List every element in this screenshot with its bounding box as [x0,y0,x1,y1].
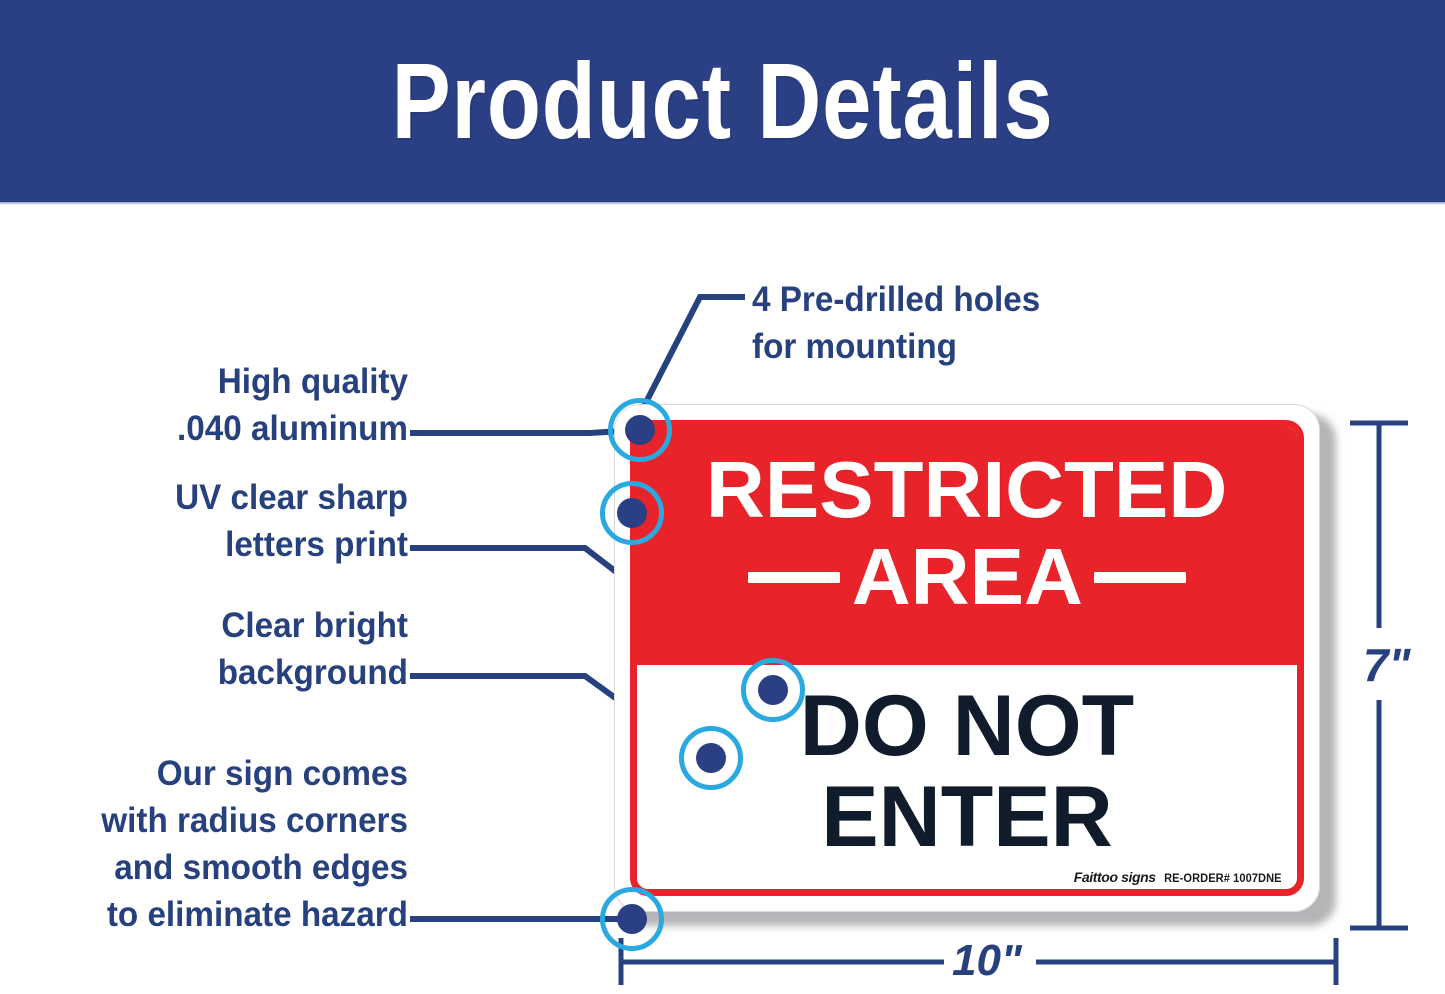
sign-headline-restricted: RESTRICTED [706,448,1227,532]
leader-aluminum [410,430,637,433]
annotation-bright-background: Clear bright background [77,602,408,696]
header-banner: Product Details [0,0,1445,202]
callout-dot [617,904,647,934]
sign-red-header: RESTRICTED AREA [636,426,1298,665]
callout-dot [617,498,647,528]
sign-headline-area: AREA [851,536,1082,618]
rule-dash-left [748,572,840,583]
callout-dot [758,675,788,705]
annotation-aluminum: High quality .040 aluminum [77,358,408,452]
page-title: Product Details [392,47,1054,155]
sign-body-enter: ENTER [821,772,1112,862]
callout-marker-radius [600,887,664,951]
sign-reorder-code: RE-ORDER# 1007DNE [1164,871,1282,885]
sign-brand-logo: Faittoo signs [1074,869,1156,885]
sign-area-row: AREA [636,536,1298,618]
callout-marker-uv-print [741,658,805,722]
sign-aluminum-plate: RESTRICTED AREA DO NOT ENTER Faittoo sig… [614,404,1320,912]
sign-body-do-not: DO NOT [800,682,1134,770]
sign-fineprint: Faittoo signs RE-ORDER# 1007DNE [1074,869,1287,885]
dimension-label-height: 7" [1363,642,1410,688]
rule-dash-right [1094,572,1186,583]
callout-dot [625,415,655,445]
sign-product-image: RESTRICTED AREA DO NOT ENTER Faittoo sig… [614,404,1336,924]
dimension-label-width: 10" [952,938,1022,984]
annotation-uv-print: UV clear sharp letters print [77,474,408,568]
callout-marker-background [679,726,743,790]
annotation-radius-corners: Our sign comes with radius corners and s… [28,750,408,938]
callout-dot [696,743,726,773]
callout-marker-aluminum [600,481,664,545]
callout-marker-hole-top [608,398,672,462]
annotation-pre-drilled-holes: 4 Pre-drilled holes for mounting [752,276,1151,370]
banner-bottom-edge [0,202,1445,205]
sign-printed-face: RESTRICTED AREA DO NOT ENTER Faittoo sig… [630,420,1304,896]
infographic-canvas: Product Details 4 Pre-drilled holes for … [0,0,1445,994]
leader-pre-drilled-holes [640,297,745,414]
